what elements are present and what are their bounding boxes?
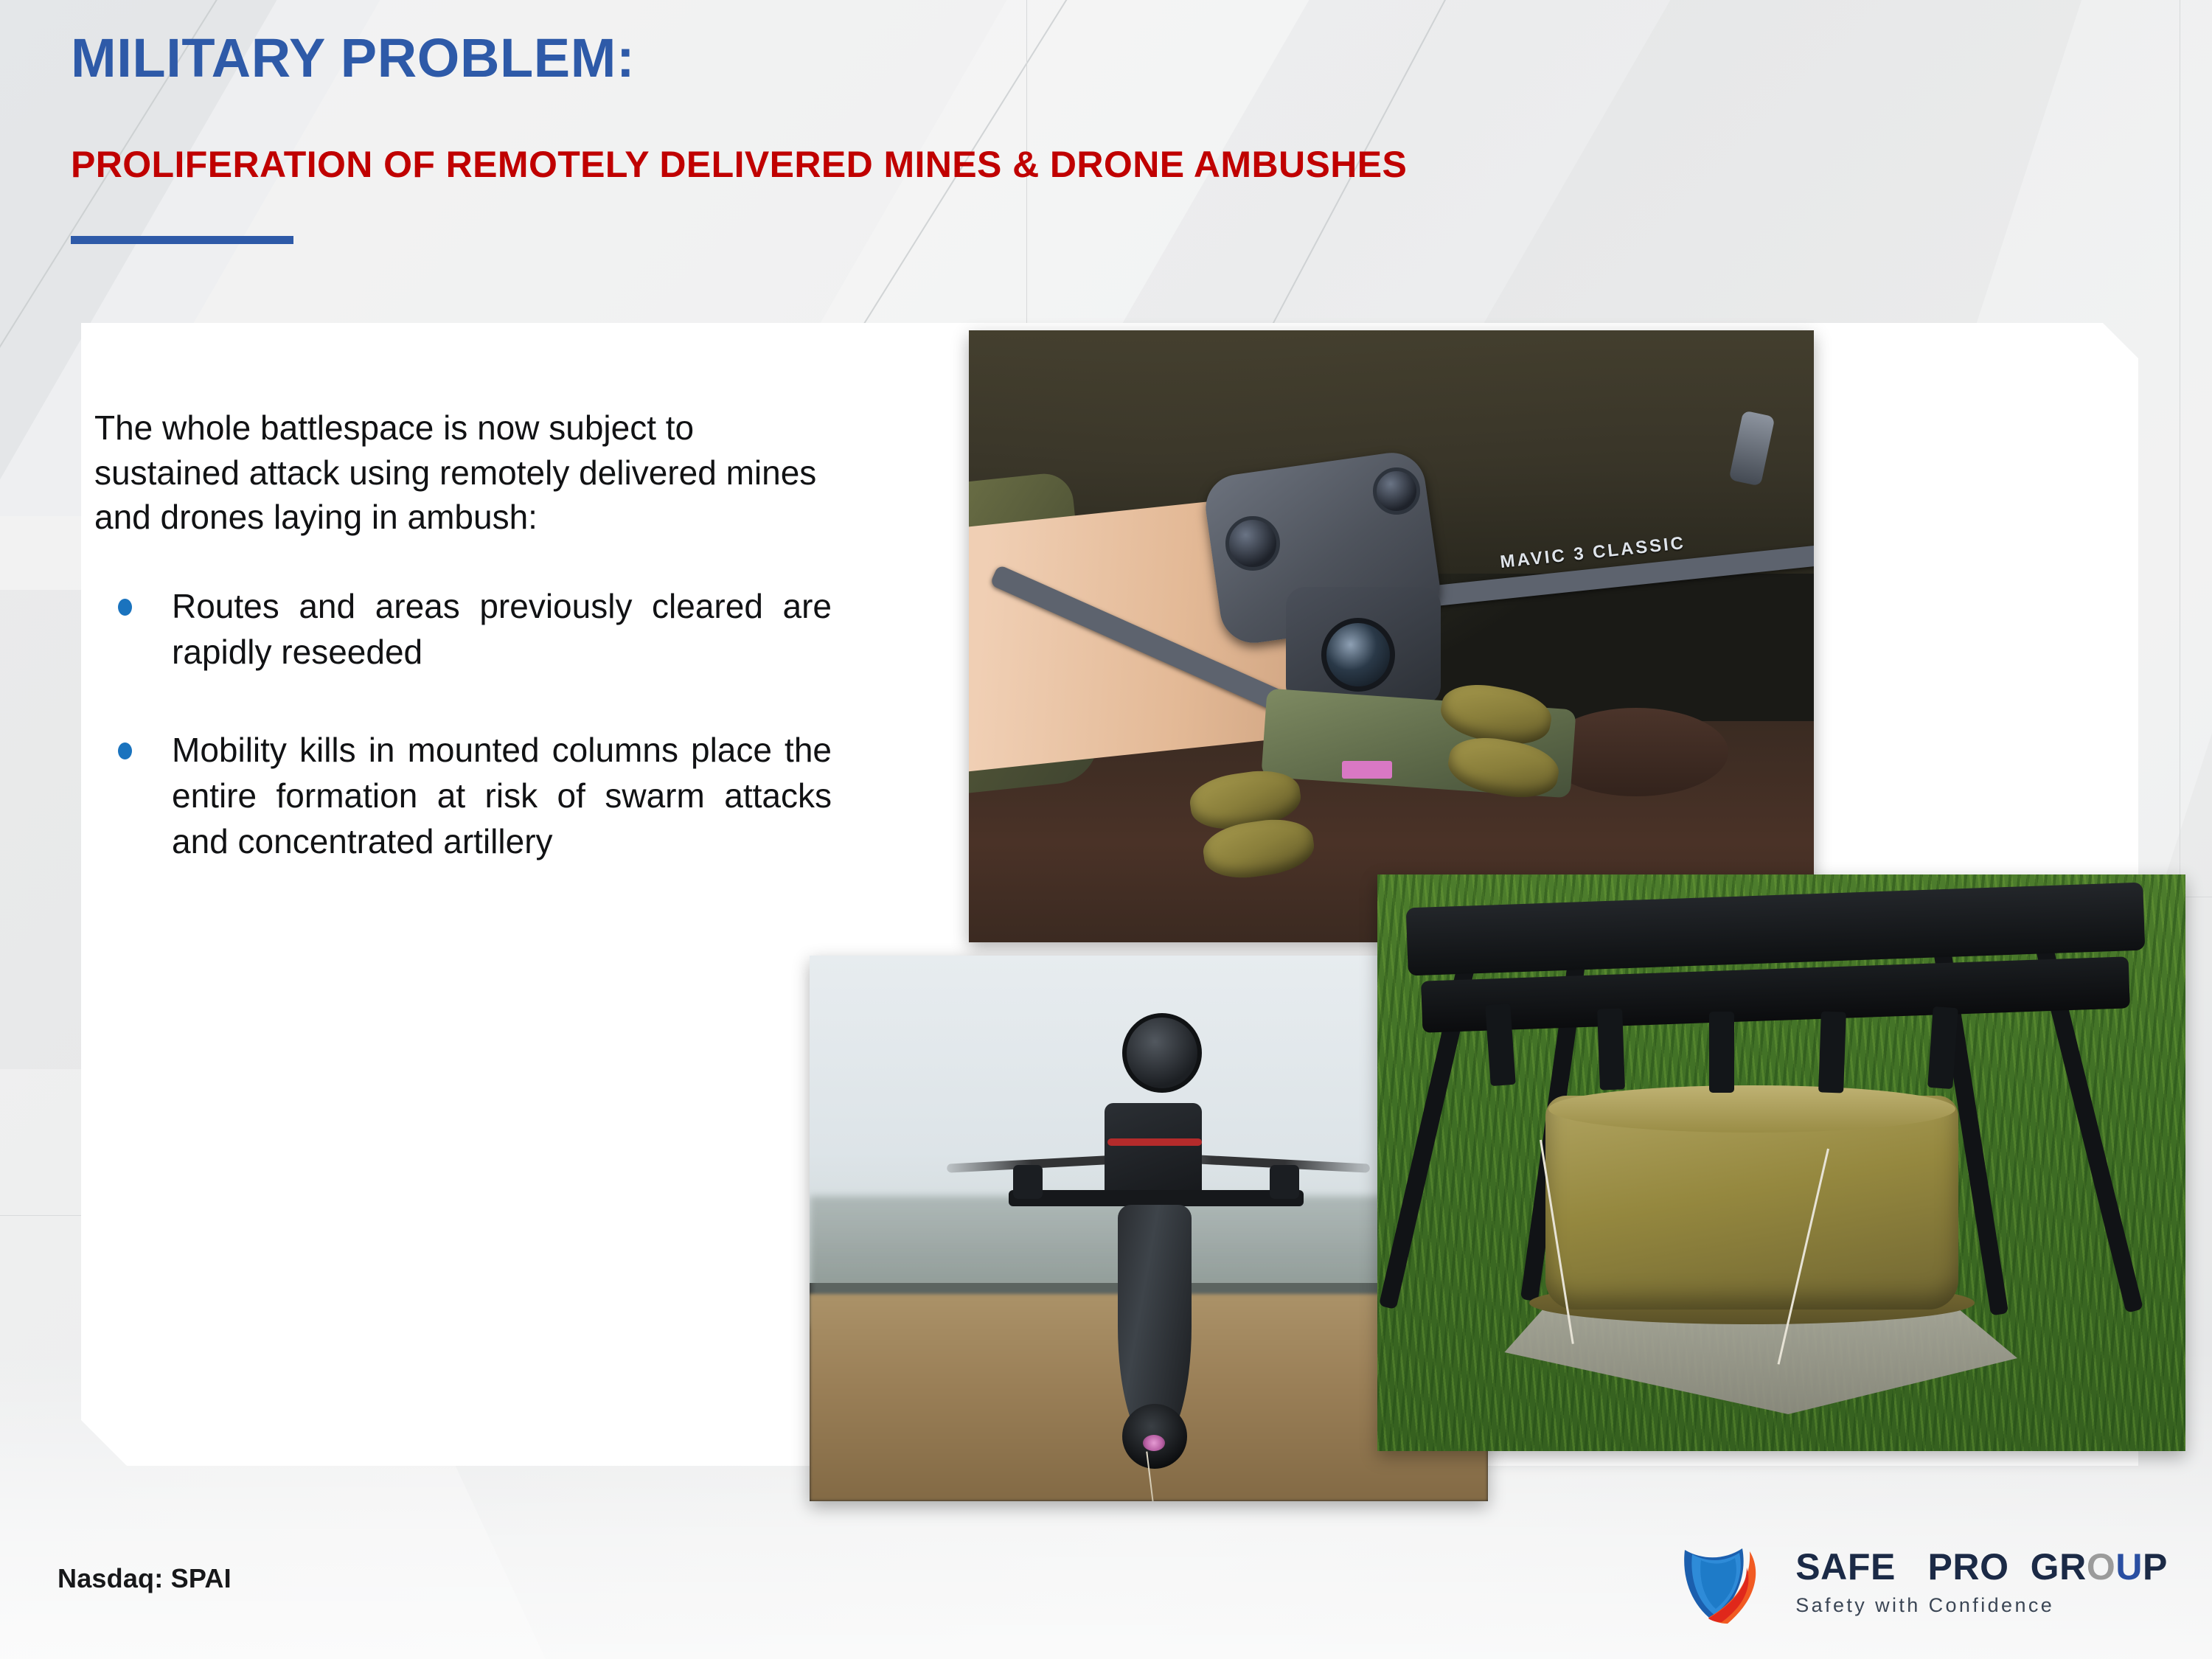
list-item: Routes and areas previously cleared are … [94,584,832,675]
slide-header: MILITARY PROBLEM: PROLIFERATION OF REMOT… [0,0,2212,280]
bullet-dot-icon [118,742,132,759]
presentation-slide: MILITARY PROBLEM: PROLIFERATION OF REMOT… [0,0,2212,1659]
photo1-camera-lens [1321,618,1395,692]
photo-drone-with-munitions: MAVIC 3 CLASSIC [969,330,1814,942]
photo3-clamp [1709,1012,1734,1093]
logo-tagline: Safety with Confidence [1795,1594,2054,1617]
photo2-battery-leads [1107,1138,1202,1146]
logo-letter-o: O [2087,1546,2116,1587]
photo1-electronics-label [1342,761,1392,779]
title-underline-rule [71,236,293,244]
slide-title: MILITARY PROBLEM: [71,31,635,86]
photo2-frame-boom [1009,1190,1304,1206]
photo2-motor-right [1270,1165,1299,1199]
photo1-sensor-lens-top [1373,467,1420,515]
logo-word-safe: SAFE [1795,1546,1896,1587]
photo-heavy-lift-drone-with-mine [1377,874,2185,1451]
photo3-clamp [1818,1011,1846,1093]
nasdaq-ticker: Nasdaq: SPAI [58,1563,232,1594]
photo1-sensor-lens-front [1225,516,1280,571]
logo-space-2 [2020,1546,2031,1587]
bullet-text: Mobility kills in mounted columns place … [172,731,832,860]
bullet-list: Routes and areas previously cleared are … [94,584,832,864]
photo3-mine-top [1548,1085,1955,1133]
lead-paragraph: The whole battlespace is now subject to … [94,406,832,540]
logo-word-pro: PRO [1927,1546,2008,1587]
bullet-text: Routes and areas previously cleared are … [172,587,832,671]
bg-horizontal-line-2 [0,1215,88,1216]
logo-wordmark: SAFE PRO GROUP [1795,1548,2168,1585]
logo-word-gr: GR [2031,1546,2087,1587]
slide-subtitle: PROLIFERATION OF REMOTELY DELIVERED MINE… [71,146,1407,183]
logo-letter-p: P [2143,1546,2168,1587]
list-item: Mobility kills in mounted columns place … [94,728,832,864]
shield-icon [1679,1538,1779,1627]
photo2-motor-left [1013,1165,1043,1199]
photo3-clamp [1597,1008,1625,1090]
logo-letter-u: U [2115,1546,2143,1587]
photo2-shaped-charge-liner [1143,1435,1165,1451]
photo2-camera-dome [1122,1013,1202,1093]
logo-text-block: SAFE PRO GROUP Safety with Confidence [1795,1548,2168,1617]
logo-space-1 [1906,1546,1917,1587]
bullet-dot-icon [118,599,132,616]
text-column: The whole battlespace is now subject to … [94,406,832,917]
company-logo: SAFE PRO GROUP Safety with Confidence [1679,1538,2168,1627]
